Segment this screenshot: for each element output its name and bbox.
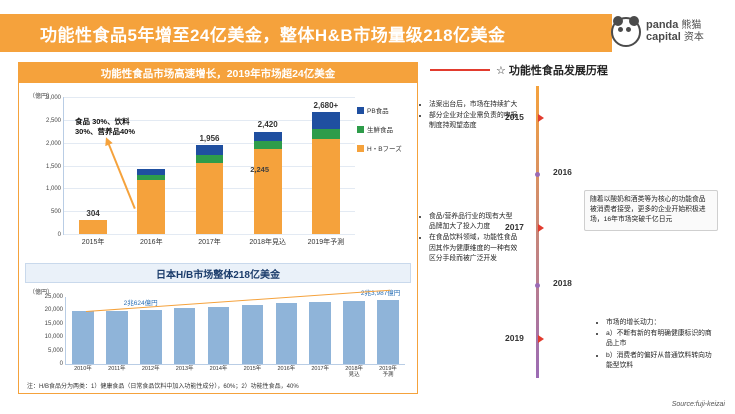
divider <box>430 69 490 71</box>
left-panel-header: 功能性食品市场高速增长，2019年市场超24亿美金 <box>19 63 417 83</box>
chart1-bar: 2,420 <box>254 131 282 234</box>
timeline-year-2019: 2019 <box>505 333 524 343</box>
chart2-xtick: 2010年 <box>74 366 92 372</box>
right-panel-header: ☆ 功能性食品发展历程 <box>430 62 720 78</box>
chart2-xtick: 2017年 <box>311 366 329 372</box>
chart2-xtick: 2016年 <box>277 366 295 372</box>
chart1-gridline: 0 <box>64 234 355 235</box>
growth-arrow-icon <box>107 143 136 210</box>
source-label: Source:fuji-keizai <box>672 401 725 408</box>
chart-hb-market: （億円） 25,00020,00015,00010,0005,00002010年… <box>23 285 413 391</box>
timeline-marker-2017-icon <box>538 224 544 232</box>
chart2-bar <box>343 301 365 364</box>
chart1-bar-segment <box>137 180 165 234</box>
chart2-ytick: 25,000 <box>45 294 63 300</box>
chart1-bar-segment <box>196 145 224 156</box>
legend-label: H・Bフーズ <box>367 143 402 153</box>
slide-root: 功能性食品5年增至24亿美金，整体H&B市场量级218亿美金 panda 熊猫 … <box>0 0 735 414</box>
chart2-xtick: 2015年 <box>244 366 262 372</box>
chart1-legend-item: H・Bフーズ <box>357 143 411 153</box>
chart1-bar-label: 304 <box>86 209 99 218</box>
chart2-bar <box>242 305 264 364</box>
note-2015: 法案出台后，市场在持续扩大部分企业对企业需负责的申报制度持观望态度 <box>420 100 518 133</box>
chart1-ytick: 2,000 <box>46 141 61 147</box>
chart2-xtick: 2014年 <box>210 366 228 372</box>
chart2-bar <box>174 308 196 364</box>
sub-panel-header-text: 日本H/B市场整体218亿美金 <box>156 266 280 281</box>
chart1-inbar-label: 2,245 <box>250 165 269 174</box>
footnote: 注：H/B食品分为两类：1）健康食品（日常食品饮料中加入功能性成分），60%；2… <box>27 381 299 390</box>
left-panel: 功能性食品市场高速增长，2019年市场超24亿美金 （億円） 3,0002,50… <box>18 62 418 394</box>
chart1-bar-label: 1,956 <box>199 134 219 143</box>
note-item: 食品/营养品行业的现有大型品牌加大了投入力度 <box>429 212 518 232</box>
chart2-bar <box>208 307 230 364</box>
chart1-ytick: 0 <box>58 232 61 238</box>
chart1-bar: 304 <box>79 220 107 234</box>
timeline-marker-2015-icon <box>538 114 544 122</box>
chart1-xtick: 2015年 <box>82 237 105 247</box>
chart1-ytick: 1,500 <box>46 164 61 170</box>
chart2-ytick: 10,000 <box>45 334 63 340</box>
chart1-ytick: 3,000 <box>46 95 61 101</box>
timeline-marker-2019-icon <box>538 335 544 343</box>
note-item: 在食品饮料领域，功能性食品因其作为健康维度的一种有效区分手段而被广泛开发 <box>429 233 518 264</box>
chart1-bar <box>137 169 165 234</box>
chart1-bar-segment <box>79 220 107 234</box>
chart1-gridline: 3,000 <box>64 97 355 98</box>
chart1-legend-item: 生鮮食品 <box>357 124 411 134</box>
chart2-bar <box>309 302 331 364</box>
note-item: 法案出台后，市场在持续扩大 <box>429 100 518 110</box>
chart1-xtick: 2019年予測 <box>308 237 345 247</box>
logo-en2: capital <box>646 32 681 44</box>
brand-logo: panda 熊猫 capital 资本 <box>611 14 721 50</box>
chart1-bar: 2,680+ <box>312 112 340 234</box>
chart2-xtick: 2011年 <box>108 366 125 372</box>
chart2-bar <box>140 310 162 364</box>
timeline-dot-2016-icon <box>535 172 540 177</box>
chart1-legend-item: PB食品 <box>357 105 411 115</box>
sub-panel-header: 日本H/B市场整体218亿美金 <box>25 263 411 283</box>
legend-label: PB食品 <box>367 105 389 115</box>
chart2-xtick: 2012年 <box>142 366 160 372</box>
chart1-bar-segment <box>254 132 282 141</box>
page-title: 功能性食品5年增至24亿美金，整体H&B市场量级218亿美金 <box>0 21 506 46</box>
chart2-ytick: 15,000 <box>45 321 63 327</box>
note-2016-box: 随着以酸奶和酒类等为核心的功能食品被消费者接受，更多的企业开始积极进场，16年市… <box>584 190 718 231</box>
logo-cn: 熊猫 <box>681 21 701 32</box>
title-band: 功能性食品5年增至24亿美金，整体H&B市场量级218亿美金 <box>0 14 612 52</box>
legend-swatch-icon <box>357 126 364 133</box>
legend-swatch-icon <box>357 107 364 114</box>
chart1-ytick: 1,000 <box>46 186 61 192</box>
chart2-ytick: 0 <box>60 361 63 367</box>
chart1-bar-segment <box>196 163 224 234</box>
note-2019: 市场的增长动力：a）不断有新的有明确健康标识的商品上市b）消费者的偏好从普通饮料… <box>597 318 715 372</box>
chart1-xtick: 2017年 <box>198 237 221 247</box>
legend-swatch-icon <box>357 145 364 152</box>
chart1-bar-segment <box>254 149 282 234</box>
note-item: 市场的增长动力： <box>606 318 715 328</box>
chart1-bar-segment <box>254 141 282 149</box>
chart1-bar-segment <box>196 155 224 162</box>
note-item: a）不断有新的有明确健康标识的商品上市 <box>606 329 715 349</box>
chart1-bar-segment <box>312 129 340 138</box>
panda-icon <box>611 17 641 47</box>
timeline-dot-2018-icon <box>535 283 540 288</box>
note-2017: 食品/营养品行业的现有大型品牌加大了投入力度在食品饮料领域，功能性食品因其作为健… <box>420 212 518 265</box>
note-item: 部分企业对企业需负责的申报制度持观望态度 <box>429 111 518 131</box>
chart2-plot: 25,00020,00015,00010,0005,00002010年2011年… <box>65 297 405 365</box>
chart1-bar: 1,956 <box>196 145 224 234</box>
chart2-bar <box>276 303 298 364</box>
legend-label: 生鮮食品 <box>367 124 393 134</box>
chart1-bar-label: 2,680+ <box>314 101 339 110</box>
chart2-xtick: 2019年予測 <box>379 366 397 379</box>
chart2-bar <box>72 311 94 364</box>
chart2-xtick: 2013年 <box>176 366 194 372</box>
chart2-ytick: 5,000 <box>48 348 63 354</box>
chart1-xtick: 2018年見込 <box>249 237 286 247</box>
chart2-ytick: 20,000 <box>45 307 63 313</box>
note-item: b）消费者的偏好从普通饮料转向功能型饮料 <box>606 351 715 371</box>
right-panel-header-text: ☆ 功能性食品发展历程 <box>496 62 608 78</box>
logo-text: panda 熊猫 capital 资本 <box>646 20 704 43</box>
left-panel-header-text: 功能性食品市场高速增长，2019年市场超24亿美金 <box>101 66 336 81</box>
chart2-bar <box>377 300 399 364</box>
chart1-bar-label: 2,420 <box>258 120 278 129</box>
chart1-bar-segment <box>312 112 340 130</box>
chart1-ytick: 500 <box>51 209 61 215</box>
timeline-year-2018: 2018 <box>553 278 572 288</box>
logo-cn2: 资本 <box>684 33 704 44</box>
chart1-legend: PB食品生鮮食品H・Bフーズ <box>357 105 411 162</box>
chart1-ytick: 2,500 <box>46 118 61 124</box>
chart1-annotation: 食品 30%、饮料 30%、营养品40% <box>75 117 137 137</box>
chart1-bar-segment <box>312 139 340 234</box>
timeline-year-2016: 2016 <box>553 167 572 177</box>
chart2-xtick: 2018年見込 <box>345 366 363 379</box>
chart1-xtick: 2016年 <box>140 237 163 247</box>
chart-functional-food: （億円） 3,0002,5002,0001,5001,0005000304201… <box>23 87 413 257</box>
chart2-bar <box>106 311 128 364</box>
